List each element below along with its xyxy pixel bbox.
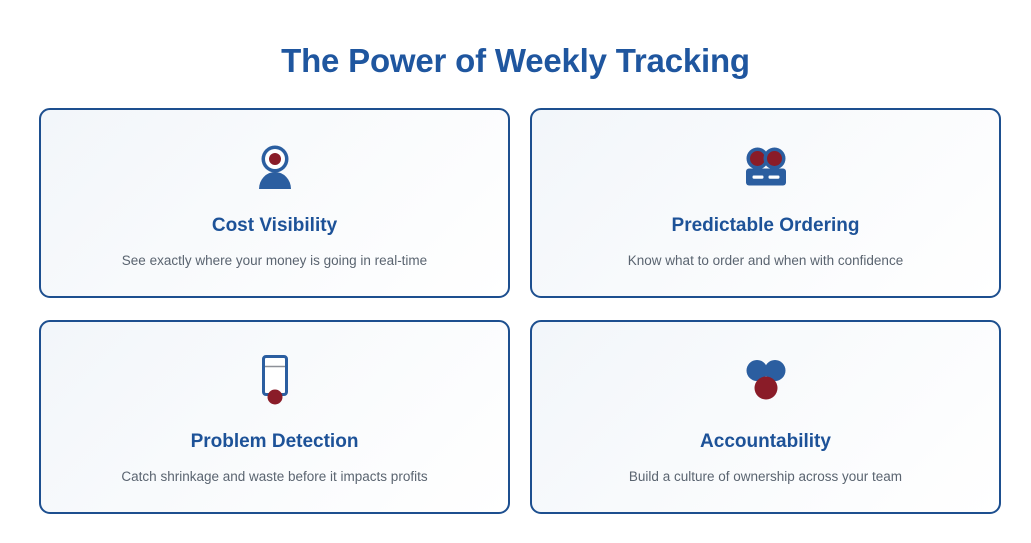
feature-card-accountability[interactable]: Accountability Build a culture of owners… xyxy=(530,320,1001,514)
feature-card-description: Know what to order and when with confide… xyxy=(610,251,921,270)
feature-card-description: Build a culture of ownership across your… xyxy=(611,467,920,486)
feature-card-cost-visibility[interactable]: Cost Visibility See exactly where your m… xyxy=(39,108,510,298)
card-alert-icon xyxy=(258,355,292,405)
feature-card-description: Catch shrinkage and waste before it impa… xyxy=(103,467,445,486)
feature-card-predictable-ordering[interactable]: Predictable Ordering Know what to order … xyxy=(530,108,1001,298)
feature-card-title: Accountability xyxy=(700,430,831,454)
feature-card-grid: Cost Visibility See exactly where your m… xyxy=(39,108,1001,514)
page-title: The Power of Weekly Tracking xyxy=(0,39,1031,83)
three-circles-group-icon xyxy=(743,355,789,405)
feature-card-title: Cost Visibility xyxy=(212,214,337,238)
person-visibility-icon xyxy=(255,142,295,192)
feature-card-title: Predictable Ordering xyxy=(672,214,860,238)
feature-card-title: Problem Detection xyxy=(191,430,359,454)
feature-grid-page: The Power of Weekly Tracking Cost Visibi… xyxy=(0,0,1031,543)
feature-card-description: See exactly where your money is going in… xyxy=(104,251,445,270)
two-dials-panel-icon xyxy=(743,142,789,192)
feature-card-problem-detection[interactable]: Problem Detection Catch shrinkage and wa… xyxy=(39,320,510,514)
